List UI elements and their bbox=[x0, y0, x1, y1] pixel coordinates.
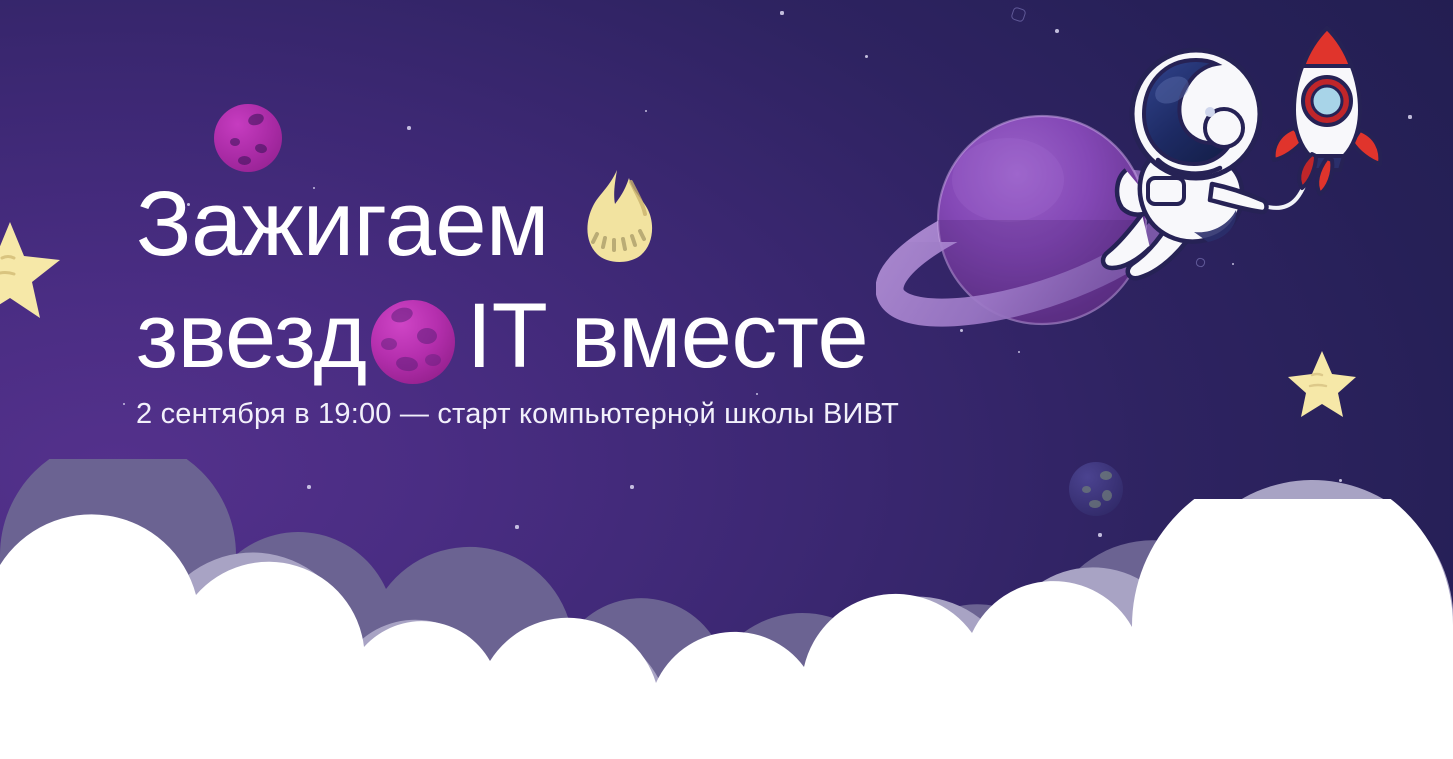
star-dot bbox=[515, 525, 518, 528]
star-dot bbox=[407, 126, 411, 130]
star-ring bbox=[1010, 6, 1026, 22]
star-dot bbox=[123, 403, 126, 406]
moon-icon-inline bbox=[369, 298, 457, 386]
small-planet bbox=[1069, 462, 1123, 516]
star-dot bbox=[307, 485, 311, 489]
headline-line-2: звезд bbox=[136, 280, 1096, 392]
event-subtitle: 2 сентября в 19:00 — старт компьютерной … bbox=[136, 398, 1096, 431]
astronaut-with-rocket bbox=[1096, 18, 1406, 288]
cloud-bank-back bbox=[0, 459, 1453, 759]
star-dot bbox=[1055, 29, 1059, 33]
headline-line-1-text: Зажигаем bbox=[136, 168, 549, 280]
moon-icon-top-left bbox=[214, 104, 282, 172]
cartoon-star-left bbox=[0, 218, 62, 322]
star-dot bbox=[1408, 115, 1411, 118]
hero-banner: Зажигаем звезд bbox=[0, 0, 1453, 759]
star-dot bbox=[780, 11, 783, 14]
hero-copy: Зажигаем звезд bbox=[136, 168, 1096, 431]
astronaut-group bbox=[1103, 50, 1266, 278]
headline-line-2-before: звезд bbox=[136, 280, 367, 392]
flame-icon bbox=[563, 164, 671, 272]
headline-line-1: Зажигаем bbox=[136, 168, 1096, 280]
cloud-bank-front bbox=[0, 499, 1453, 759]
rocket-group bbox=[1274, 28, 1381, 194]
star-dot bbox=[1098, 533, 1101, 536]
headline-line-2-after: IT вместе bbox=[467, 280, 869, 392]
cloud-bank-mid bbox=[0, 469, 1453, 759]
star-dot bbox=[645, 110, 648, 113]
star-dot bbox=[630, 485, 633, 488]
star-dot bbox=[1339, 479, 1342, 482]
star-dot bbox=[865, 55, 868, 58]
cartoon-star-right bbox=[1286, 348, 1358, 420]
